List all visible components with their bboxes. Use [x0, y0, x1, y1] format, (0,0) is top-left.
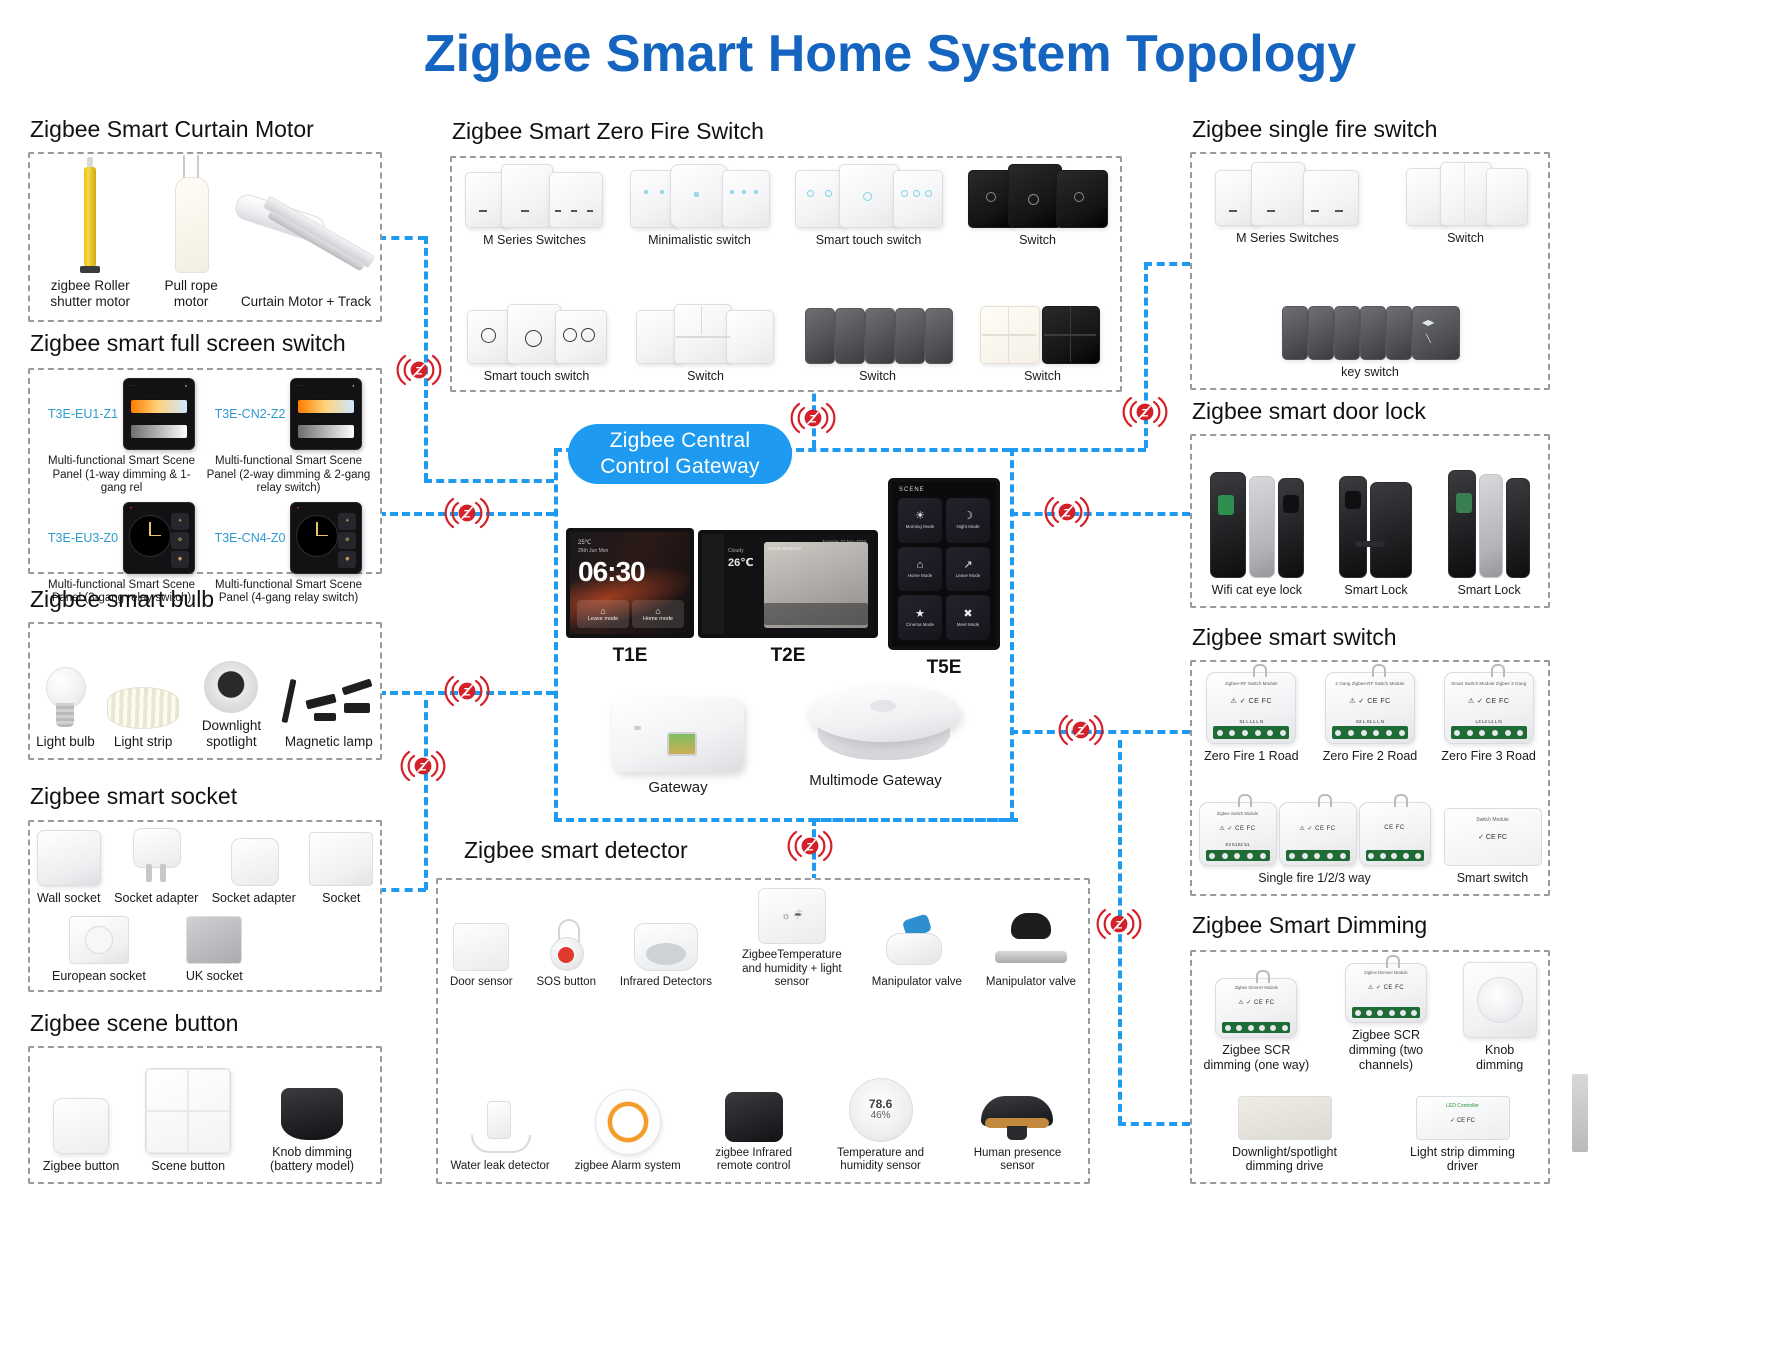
product-cell[interactable]: Zigbee button — [43, 1098, 119, 1174]
gateway-label-line2: Control Gateway — [600, 454, 759, 480]
product-label: Downlight spotlight — [191, 718, 271, 750]
zigbee-signal-icon: Z — [1096, 906, 1142, 942]
infrared-remote-control-art — [725, 1092, 783, 1142]
product-cell[interactable]: Wifi cat eye lock — [1210, 472, 1304, 598]
center-box-left — [554, 448, 558, 820]
link-right-upper-h — [1010, 448, 1146, 452]
zigbee-signal-icon: Z — [787, 828, 833, 864]
section-box-single-fire-switch: M Series Switches Switch — [1190, 152, 1550, 390]
t1e-screen: 25℃ 26th Jun Mon 06:30 ⌂Leave mode ⌂Home… — [566, 528, 694, 638]
curtain-motor-track-art — [232, 193, 380, 289]
product-label: Zero Fire 3 Road — [1441, 749, 1535, 764]
product-label: Zero Fire 1 Road — [1204, 749, 1298, 764]
product-cell[interactable]: European socket — [52, 916, 146, 984]
zigbee-signal-icon: Z — [444, 495, 490, 531]
product-cell[interactable]: T3E-CN4-Z0 ▼ ☀⚙◉ Multi-functional Smart … — [205, 502, 372, 606]
product-label: UK socket — [186, 969, 243, 984]
product-cell[interactable]: 78.6 46% Temperature and humidity sensor — [827, 1078, 935, 1174]
product-label: zigbee Alarm system — [575, 1160, 681, 1174]
smart-lock-art — [1339, 476, 1412, 578]
product-cell[interactable]: Zigbee-RF Switch Module ⚠ ✓ CE FC S1 L L… — [1204, 672, 1298, 764]
product-cell[interactable]: Socket adapter — [212, 838, 296, 906]
section-title-smart-detector: Zigbee smart detector — [464, 837, 688, 864]
scene-panel-clock-art: ▼ ☀⚙◉ — [290, 502, 362, 574]
smart-touch-switch-white-art — [467, 306, 607, 364]
section-title-full-screen-switch: Zigbee smart full screen switch — [30, 330, 346, 357]
scene-button-art — [145, 1068, 231, 1154]
t1e-tile-leave: Leave mode — [588, 616, 618, 622]
product-label: Smart touch switch — [816, 233, 922, 248]
panel-t5e[interactable]: SCENE ☀Morning Mode ☽Night Mode ⌂Home Mo… — [888, 478, 1000, 679]
link-dimming-h — [1118, 1122, 1190, 1126]
multimode-gateway-device[interactable]: Multimode Gateway — [808, 684, 960, 790]
section-title-single-fire-switch: Zigbee single fire switch — [1192, 116, 1437, 143]
product-label: Switch — [1024, 369, 1061, 384]
t5e-screen: SCENE ☀Morning Mode ☽Night Mode ⌂Home Mo… — [888, 478, 1000, 650]
dark-switch-art — [968, 166, 1108, 228]
product-label: Zero Fire 2 Road — [1323, 749, 1417, 764]
gateway-art — [612, 698, 744, 772]
product-label: Light strip dimming driver — [1408, 1145, 1518, 1175]
t2e-weather: 26℃ — [728, 556, 754, 569]
product-label: European socket — [52, 969, 146, 984]
product-cell[interactable]: zigbee Infrared remote control — [706, 1092, 802, 1174]
product-label: Minimalistic switch — [648, 233, 751, 248]
t5e-tile: Cinema Mode — [906, 622, 934, 627]
link-curtain-to-center — [424, 479, 554, 483]
gateway-device[interactable]: Gateway — [612, 698, 744, 797]
central-gateway-pill[interactable]: Zigbee Central Control Gateway — [568, 424, 792, 484]
module-pins: S2 L S1 L L N — [1334, 719, 1406, 724]
product-label: Manipulator valve — [872, 976, 962, 990]
product-cell[interactable]: Light bulb — [36, 667, 95, 750]
product-label: Zigbee button — [43, 1159, 119, 1174]
product-label: Socket adapter — [114, 891, 198, 906]
product-label: Multi-functional Smart Scene Panel (2-wa… — [206, 455, 371, 496]
roller-shutter-motor-art — [80, 157, 100, 273]
product-label: Switch — [1019, 233, 1056, 248]
module-title: Zigbee Dimmer Module — [1352, 970, 1420, 975]
switch-white-art — [636, 306, 776, 364]
t1e-date: 26th Jun Mon — [578, 548, 608, 554]
door-sensor-art — [453, 923, 509, 971]
minimalistic-switch-art — [630, 166, 770, 228]
product-label: Door sensor — [450, 976, 513, 990]
magnetic-lamp-art — [284, 673, 374, 729]
section-box-full-screen-switch: T3E-EU1-Z1 · · · ● · · · · · · · · · · ·… — [28, 368, 382, 574]
product-cell[interactable]: T3E-CN2-Z2 · · · ● · · · · · · · · · · ·… — [205, 378, 372, 496]
product-cell[interactable]: Wall socket — [37, 830, 101, 906]
t2e-screen: Tuesday 02 Nov 2022 Cloudy 26℃ Master Be… — [698, 530, 878, 638]
product-cell[interactable]: Smart touch switch — [467, 306, 607, 384]
product-label: Socket — [322, 891, 360, 906]
t2e-condition: Cloudy — [728, 548, 744, 554]
socket-plate-art — [309, 832, 373, 886]
human-presence-sensor-art — [981, 1096, 1053, 1142]
module-title: Switch Module — [1451, 817, 1535, 823]
product-label: M Series Switches — [1236, 231, 1339, 246]
product-label: Switch — [859, 369, 896, 384]
model-code: T3E-CN4-Z0 — [215, 531, 286, 545]
product-label: Scene button — [151, 1159, 225, 1174]
product-label: Knob dimming — [1462, 1043, 1538, 1073]
zigbee-signal-icon: Z — [1044, 494, 1090, 530]
product-cell[interactable]: Switch — [805, 306, 951, 384]
t5e-tile: Leave Mode — [956, 573, 981, 578]
product-cell[interactable]: Knob dimming — [1462, 962, 1538, 1073]
product-label: Smart touch switch — [484, 369, 590, 384]
light-strip-art — [107, 687, 179, 729]
manipulator-valve-2-art — [991, 913, 1071, 971]
t1e-weather: 25℃ — [578, 540, 591, 546]
section-title-smart-socket: Zigbee smart socket — [30, 783, 237, 810]
link-socket-h — [378, 888, 426, 892]
product-label: Smart switch — [1457, 871, 1529, 886]
product-cell[interactable]: Socket adapter — [114, 828, 198, 906]
t5e-label: T5E — [888, 657, 1000, 679]
section-title-scene-button: Zigbee scene button — [30, 1010, 238, 1037]
alarm-system-art — [595, 1089, 661, 1155]
product-label: M Series Switches — [483, 233, 586, 248]
european-socket-art — [69, 916, 129, 964]
product-cell[interactable]: Zigbee Switch Module ⚠ ✓ CE FC K2 K1S2 S… — [1199, 802, 1431, 886]
product-cell[interactable]: Downlight spotlight — [191, 661, 271, 750]
smart-touch-switch-art — [795, 166, 943, 228]
product-cell[interactable]: Curtain Motor + Track — [232, 193, 380, 310]
product-label: Downlight/spotlight dimming drive — [1223, 1145, 1347, 1175]
center-box-bottom — [554, 818, 1010, 822]
section-box-smart-bulb: Light bulb Light strip Downlight spotlig… — [28, 622, 382, 760]
m-series-switches-art — [1215, 164, 1361, 226]
switch-cream-dark-art — [980, 306, 1106, 364]
section-box-smart-socket: Wall socket Socket adapter Socket adapte… — [28, 820, 382, 992]
product-cell[interactable]: Magnetic lamp — [284, 673, 374, 750]
infrared-detector-art — [634, 923, 698, 971]
module-title: Zigbee Dimmer Module — [1222, 985, 1290, 990]
smart-lock-2-art — [1448, 470, 1530, 578]
module-pins: L3 L2 L1 L N — [1453, 719, 1525, 724]
product-cell[interactable]: Switch Module ✓ CE FC Smart switch — [1444, 808, 1542, 886]
product-label: Human presence sensor — [959, 1147, 1075, 1174]
panel-t2e[interactable]: Tuesday 02 Nov 2022 Cloudy 26℃ Master Be… — [698, 530, 878, 667]
product-cell[interactable]: zigbee Roller shutter motor — [30, 157, 150, 310]
product-label: Smart Lock — [1458, 583, 1521, 598]
product-cell[interactable]: Smart Lock — [1448, 470, 1530, 598]
section-title-smart-dimming: Zigbee Smart Dimming — [1192, 912, 1427, 939]
module-pins: S1 L L1 L N — [1215, 719, 1287, 724]
water-leak-detector-art — [469, 1101, 531, 1155]
scene-panel-art: · · · ● · · · · · · · · · · · · — [290, 378, 362, 450]
module-title: 2 Gang Zigbee-RF Switch Module — [1332, 681, 1408, 687]
wifi-cat-eye-lock-art — [1210, 472, 1304, 578]
product-cell[interactable]: UK socket — [186, 916, 243, 984]
center-box-right — [1010, 448, 1014, 820]
product-label: zigbee Roller shutter motor — [30, 278, 150, 310]
section-title-curtain-motor: Zigbee Smart Curtain Motor — [30, 116, 314, 143]
section-title-zero-fire-switch: Zigbee Smart Zero Fire Switch — [452, 118, 764, 145]
knob-dimming-art — [1463, 962, 1537, 1038]
product-label: Water leak detector — [450, 1160, 549, 1174]
product-cell[interactable]: Downlight/spotlight dimming drive — [1223, 1096, 1347, 1175]
scr-dimming-two-channel-module-art: Zigbee Dimmer Module ⚠ ✓ CE FC — [1345, 963, 1427, 1023]
product-cell[interactable]: ◀▶ ╲ key switch — [1282, 306, 1458, 380]
product-label: Socket adapter — [212, 891, 296, 906]
module-title: LED Controller — [1423, 1103, 1503, 1109]
product-label: Zigbee SCR dimming (one way) — [1202, 1043, 1310, 1073]
product-cell[interactable]: Zigbee Dimmer Module ⚠ ✓ CE FC Zigbee SC… — [1202, 978, 1310, 1073]
t5e-tile: Home Mode — [908, 573, 933, 578]
temp-reading: 78.6 — [869, 1098, 892, 1110]
multimode-gateway-label: Multimode Gateway — [808, 772, 943, 790]
sos-button-art — [546, 919, 586, 971]
humidity-reading: 46% — [871, 1110, 891, 1121]
product-cell[interactable]: Smart Lock — [1339, 476, 1412, 598]
product-label: Infrared Detectors — [620, 976, 712, 990]
product-cell[interactable]: Door sensor — [450, 923, 513, 990]
module-title: Zigbee-RF Switch Module — [1213, 681, 1289, 687]
t5e-header: SCENE — [899, 487, 925, 493]
product-cell[interactable]: Switch — [636, 306, 776, 384]
model-code: T3E-EU3-Z0 — [48, 531, 118, 545]
product-cell[interactable]: Water leak detector — [450, 1101, 549, 1174]
product-cell[interactable]: Smart touch switch — [795, 166, 943, 248]
downlight-spotlight-art — [204, 661, 258, 713]
switch-grey-art — [805, 306, 951, 364]
scene-panel-art: · · · ● · · · · · · · · · · · · — [123, 378, 195, 450]
product-cell[interactable]: Minimalistic switch — [630, 166, 770, 248]
uk-socket-art — [186, 916, 242, 964]
gateway-label: Gateway — [612, 779, 744, 797]
section-title-smart-switch: Zigbee smart switch — [1192, 624, 1397, 651]
socket-adapter-uk-art — [231, 838, 277, 886]
product-cell[interactable]: Smart Switch Module Zigbee 3 Gang ⚠ ✓ CE… — [1441, 672, 1535, 764]
product-cell[interactable]: SOS button — [537, 919, 596, 990]
section-box-curtain-motor: zigbee Roller shutter motor Pull rope mo… — [28, 152, 382, 322]
t5e-tile: Morning Mode — [906, 524, 935, 529]
temperature-humidity-sensor-art: 78.6 46% — [849, 1078, 913, 1142]
product-cell[interactable]: Knob dimming (battery model) — [257, 1088, 367, 1175]
module-title: Zigbee Switch Module — [1206, 811, 1270, 816]
pull-rope-motor-art — [169, 155, 213, 273]
product-cell[interactable]: Switch — [968, 166, 1108, 248]
t5e-tile: Night Mode — [956, 524, 979, 529]
product-label: Switch — [1447, 231, 1484, 246]
section-box-smart-switch: Zigbee-RF Switch Module ⚠ ✓ CE FC S1 L L… — [1190, 660, 1550, 896]
zero-fire-3-road-module-art: Smart Switch Module Zigbee 3 Gang ⚠ ✓ CE… — [1444, 672, 1534, 744]
t2e-label: T2E — [698, 645, 878, 667]
single-fire-module-art: Zigbee Switch Module ⚠ ✓ CE FC K2 K1S2 S… — [1199, 802, 1431, 866]
product-label: Temperature and humidity sensor — [827, 1147, 935, 1174]
link-curtain-h — [378, 236, 426, 240]
wall-socket-art — [37, 830, 101, 886]
product-cell[interactable]: Manipulator valve — [986, 913, 1076, 990]
product-cell[interactable]: 2 Gang Zigbee-RF Switch Module ⚠ ✓ CE FC… — [1323, 672, 1417, 764]
product-label: key switch — [1341, 365, 1399, 380]
module-title: Smart Switch Module Zigbee 3 Gang — [1451, 681, 1527, 687]
t1e-label: T1E — [566, 645, 694, 667]
section-title-smart-bulb: Zigbee smart bulb — [30, 586, 214, 613]
product-cell[interactable]: LED Controller ✓ CE FC Light strip dimmi… — [1408, 1096, 1518, 1175]
scene-panel-clock-art: ▼ ☀⚙◉ — [123, 502, 195, 574]
product-label: zigbee Infrared remote control — [706, 1147, 802, 1174]
product-cell[interactable]: Light strip — [107, 687, 179, 750]
product-label: Smart Lock — [1344, 583, 1407, 598]
zero-fire-2-road-module-art: 2 Gang Zigbee-RF Switch Module ⚠ ✓ CE FC… — [1325, 672, 1415, 744]
product-cell[interactable]: Scene button — [145, 1068, 231, 1174]
zigbee-signal-icon: Z — [1122, 394, 1168, 430]
product-label: Single fire 1/2/3 way — [1258, 871, 1371, 886]
product-label: Wifi cat eye lock — [1212, 583, 1302, 598]
light-bulb-art — [43, 667, 87, 729]
section-box-door-lock: Wifi cat eye lock Smart Lock Smart Lock — [1190, 434, 1550, 608]
gateway-label-line1: Zigbee Central — [600, 428, 759, 454]
model-code: T3E-CN2-Z2 — [215, 407, 286, 421]
t1e-tile-home: Home mode — [643, 616, 673, 622]
model-code: T3E-EU1-Z1 — [48, 407, 118, 421]
product-cell[interactable]: Switch — [980, 306, 1106, 384]
link-socket-v — [424, 700, 428, 890]
product-cell[interactable]: Human presence sensor — [959, 1096, 1075, 1174]
product-cell[interactable]: Socket — [309, 832, 373, 906]
product-label: Pull rope motor — [150, 278, 232, 310]
section-box-scene-button: Zigbee button Scene button Knob dimming … — [28, 1046, 382, 1184]
product-label: Magnetic lamp — [285, 734, 373, 750]
switch-art — [1406, 164, 1526, 226]
zigbee-signal-icon: Z — [1058, 712, 1104, 748]
link-doorlock-h — [1010, 512, 1190, 516]
product-cell[interactable]: Manipulator valve — [872, 917, 962, 990]
zigbee-signal-icon: Z — [400, 748, 446, 784]
zigbee-signal-icon: Z — [396, 352, 442, 388]
knob-dimming-battery-art — [281, 1088, 343, 1140]
product-cell[interactable]: zigbee Alarm system — [575, 1089, 681, 1174]
panel-t1e[interactable]: 25℃ 26th Jun Mon 06:30 ⌂Leave mode ⌂Home… — [566, 528, 694, 667]
socket-adapter-art — [133, 828, 179, 886]
key-switch-art: ◀▶ ╲ — [1282, 306, 1458, 360]
zigbee-button-art — [53, 1098, 109, 1154]
product-label: ZigbeeTemperature and humidity + light s… — [736, 949, 848, 990]
page-title: Zigbee Smart Home System Topology — [0, 24, 1780, 84]
product-label: Multi-functional Smart Scene Panel (1-wa… — [42, 455, 202, 496]
m-series-switches-art — [465, 166, 605, 228]
product-label: Light bulb — [36, 734, 95, 750]
section-box-smart-detector: Door sensor SOS button Infrared Detector… — [436, 878, 1090, 1184]
product-label: Light strip — [114, 734, 173, 750]
manipulator-valve-art — [878, 917, 956, 971]
product-cell[interactable]: M Series Switches — [1215, 164, 1361, 246]
downlight-dimming-drive-art — [1238, 1096, 1332, 1140]
zero-fire-1-road-module-art: Zigbee-RF Switch Module ⚠ ✓ CE FC S1 L L… — [1206, 672, 1296, 744]
section-box-smart-dimming: Zigbee Dimmer Module ⚠ ✓ CE FC Zigbee SC… — [1190, 950, 1550, 1184]
scr-dimming-one-way-module-art: Zigbee Dimmer Module ⚠ ✓ CE FC — [1215, 978, 1297, 1038]
zigbee-signal-icon: Z — [444, 673, 490, 709]
product-label: Wall socket — [37, 891, 100, 906]
product-label: Switch — [687, 369, 724, 384]
t2e-room: Master Bedroom — [768, 546, 801, 551]
temperature-humidity-light-sensor-art: ☼ ☔ — [758, 888, 826, 944]
product-cell[interactable]: Infrared Detectors — [620, 923, 712, 990]
section-title-door-lock: Zigbee smart door lock — [1192, 398, 1426, 425]
product-label: Curtain Motor + Track — [241, 294, 371, 310]
product-cell[interactable]: M Series Switches — [465, 166, 605, 248]
product-cell[interactable]: Switch — [1406, 164, 1526, 246]
product-cell[interactable]: Pull rope motor — [150, 155, 232, 310]
module-pins: K2 K1S2 S1 — [1206, 842, 1270, 847]
link-singlefire-h — [1144, 262, 1190, 266]
multimode-gateway-art — [808, 684, 960, 770]
product-label: Manipulator valve — [986, 976, 1076, 990]
product-label: Knob dimming (battery model) — [257, 1145, 367, 1175]
product-label: Zigbee SCR dimming (two channels) — [1331, 1028, 1441, 1072]
product-cell[interactable]: Zigbee Dimmer Module ⚠ ✓ CE FC Zigbee SC… — [1331, 963, 1441, 1072]
product-label: SOS button — [537, 976, 596, 990]
zigbee-signal-icon: Z — [790, 400, 836, 436]
product-cell[interactable]: T3E-EU1-Z1 · · · ● · · · · · · · · · · ·… — [38, 378, 205, 496]
product-label: Multi-functional Smart Scene Panel (4-ga… — [209, 579, 369, 606]
light-strip-dimming-driver-art: LED Controller ✓ CE FC — [1416, 1096, 1510, 1140]
t1e-time: 06:30 — [578, 556, 645, 588]
section-box-zero-fire-switch: M Series Switches Minimalistic switch — [450, 156, 1122, 392]
product-cell[interactable]: ☼ ☔ ZigbeeTemperature and humidity + lig… — [736, 888, 848, 990]
smart-switch-module-art: Switch Module ✓ CE FC — [1444, 808, 1542, 866]
t5e-tile: Meet Mode — [957, 622, 980, 627]
